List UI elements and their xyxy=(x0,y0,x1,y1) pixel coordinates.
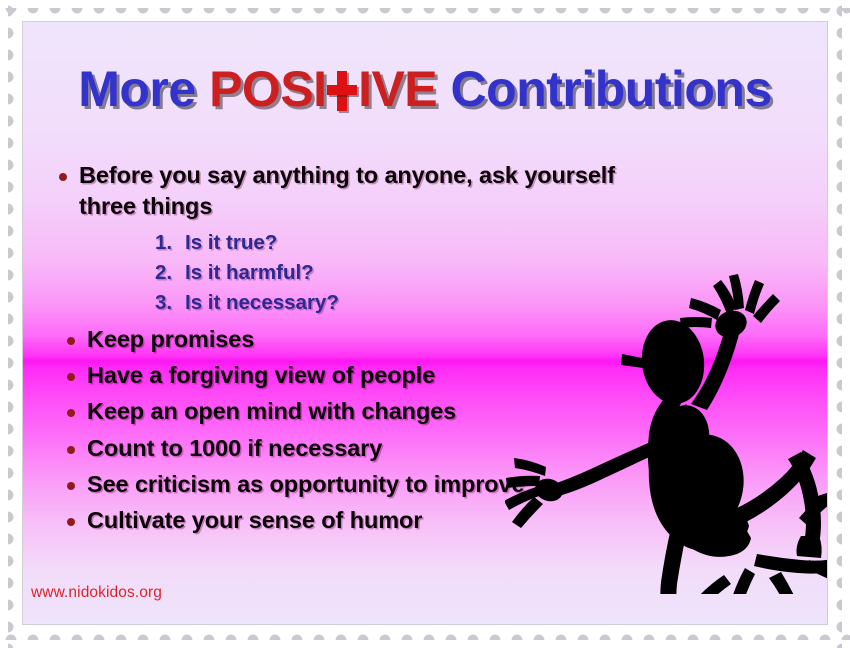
sub-item-label: Is it true? xyxy=(185,228,277,258)
sub-item-number: 2. xyxy=(155,258,185,288)
title-segment-contributions: Contributions xyxy=(437,61,772,117)
bullet-text: Count to 1000 if necessary xyxy=(87,433,382,464)
stamp-card: More POSIIVE Contributions Before you sa… xyxy=(0,0,850,648)
stamp-perforation-bottom xyxy=(0,625,850,640)
bullet-dot-icon xyxy=(67,337,75,345)
bullet-text: Cultivate your sense of humor xyxy=(87,505,422,536)
title-segment-posi: POSI xyxy=(209,61,326,117)
bullet-text: Keep promises xyxy=(87,324,254,355)
title-segment-ive: IVE xyxy=(358,61,437,117)
sub-item-number: 1. xyxy=(155,228,185,258)
bullet-dot-icon xyxy=(59,173,67,181)
bullet-text: Before you say anything to anyone, ask y… xyxy=(79,160,643,223)
dancing-stick-figure-silhouette xyxy=(505,254,827,594)
bullet-dot-icon xyxy=(67,446,75,454)
sub-item-number: 3. xyxy=(155,288,185,318)
bullet-dot-icon xyxy=(67,482,75,490)
sub-item-label: Is it harmful? xyxy=(185,258,314,288)
bullet-dot-icon xyxy=(67,373,75,381)
list-item: Before you say anything to anyone, ask y… xyxy=(23,160,643,223)
bullet-dot-icon xyxy=(67,409,75,417)
title-segment-more: More xyxy=(78,61,209,117)
footer-url[interactable]: www.nidokidos.org xyxy=(31,584,162,602)
slide-title: More POSIIVE Contributions xyxy=(23,64,827,114)
red-cross-plus-icon xyxy=(327,77,358,108)
stamp-perforation-right xyxy=(827,0,842,648)
bullet-dot-icon xyxy=(67,518,75,526)
bullet-text: Keep an open mind with changes xyxy=(87,396,456,427)
sub-item-label: Is it necessary? xyxy=(185,288,339,318)
stamp-perforation-left xyxy=(8,0,23,648)
slide-canvas: More POSIIVE Contributions Before you sa… xyxy=(23,22,827,624)
bullet-text: See criticism as opportunity to improve xyxy=(87,469,524,500)
bullet-text: Have a forgiving view of people xyxy=(87,360,435,391)
